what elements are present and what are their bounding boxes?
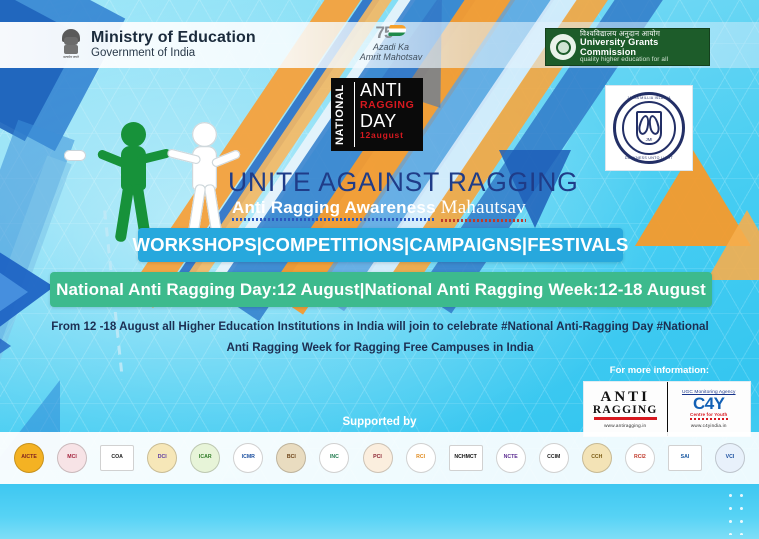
badge-vertical-text: NATIONAL (334, 82, 352, 147)
emblem-shield-icon: JMI (636, 111, 662, 145)
c4y-mark: C4Y (693, 396, 725, 411)
supporter-logo-coa: COA (100, 445, 134, 471)
tricolour-flag-icon (389, 25, 408, 36)
poster-sub-heading: Anti Ragging Awareness Mahautsav (232, 197, 526, 219)
ministry-subtitle: Government of India (91, 47, 256, 60)
antiragging-line-1: ANTI (593, 390, 658, 404)
dates-banner: National Anti Ragging Day:12 August|Nati… (50, 272, 712, 307)
ugc-english-name: University Grants Commission (580, 38, 705, 57)
supporter-logo-rci2: RCI2 (625, 443, 655, 473)
supporter-logo-bci: BCI (276, 443, 306, 473)
ugc-tagline: quality higher education for all (580, 57, 705, 64)
supporter-logo-rci: RCI (406, 443, 436, 473)
ministry-name: Ministry of Education (91, 30, 256, 47)
azadi-line-1: Azadi Ka (352, 43, 430, 52)
bottom-gradient (0, 484, 759, 539)
supporter-logo-vci: VCI (715, 443, 745, 473)
ugc-seal-icon (550, 34, 576, 60)
badge-day-text: DAY (360, 112, 420, 130)
national-anti-ragging-day-badge: NATIONAL ANTI RAGGING DAY 12august (331, 78, 423, 151)
badge-anti-text: ANTI (360, 82, 420, 99)
handshake-icon (64, 150, 86, 161)
dates-banner-text: National Anti Ragging Day:12 August|Nati… (56, 280, 706, 300)
decor-triangle-orange-2 (707, 210, 759, 280)
anti-ragging-poster: सत्यमेव जयते Ministry of Education Gover… (0, 0, 759, 539)
poster-description-paragraph: From 12 -18 August all Higher Education … (44, 316, 716, 358)
supporter-logo-sai: SAI (668, 445, 702, 471)
supporter-logo-pci: PCI (363, 443, 393, 473)
supporter-logo-nchmct: NCHMCT (449, 445, 483, 471)
azadi-ka-amrit-mahotsav-logo: 75 Azadi Ka Amrit Mahotsav (352, 25, 430, 69)
supporter-logo-icar: ICAR (190, 443, 220, 473)
national-emblem-icon: सत्यमेव जयते (60, 28, 82, 62)
antiragging-url[interactable]: www.antiragging.in (604, 423, 646, 428)
ministry-of-education-logo: सत्यमेव जयते Ministry of Education Gover… (60, 28, 256, 62)
supporter-logo-ncte: NCTE (496, 443, 526, 473)
c4y-url[interactable]: www.c4yindia.in (691, 423, 727, 428)
supporter-logo-mci: MCI (57, 443, 87, 473)
more-information-label: For more information: (610, 365, 709, 376)
squiggly-underline-red (441, 219, 526, 222)
supporter-logo-aicte: AICTE (14, 443, 44, 473)
emblem-center-text: JMI (638, 137, 660, 142)
badge-date-text: 12august (360, 130, 420, 141)
supporter-logo-strip: AICTEMCICOADCIICARICMRBCIINCPCIRCINCHMCT… (0, 432, 759, 484)
emblem-top-arc-text: JAMIA MILLIA ISLAMIA (616, 96, 682, 100)
activities-banner: WORKSHOPS|COMPETITIONS|CAMPAIGNS|FESTIVA… (138, 228, 623, 262)
antiragging-red-bar (594, 417, 657, 420)
activities-banner-text: WORKSHOPS|COMPETITIONS|CAMPAIGNS|FESTIVA… (133, 234, 629, 256)
ugc-logo: विश्वविद्यालय अनुदान आयोग University Gra… (545, 28, 710, 66)
sub-heading-part-1: Anti Ragging Awareness (232, 198, 436, 218)
emblem-caption: सत्यमेव जयते (60, 55, 82, 59)
c4y-logo[interactable]: UGC Monitoring Agency C4Y Centre for You… (667, 382, 751, 436)
more-information-box: ANTI RAGGING www.antiragging.in UGC Moni… (583, 381, 751, 437)
supporter-logo-dci: DCI (147, 443, 177, 473)
antiragging-logo[interactable]: ANTI RAGGING www.antiragging.in (584, 382, 667, 436)
antiragging-line-2: RAGGING (593, 404, 658, 416)
sub-heading-part-2: Mahautsav (441, 197, 526, 219)
emblem-bottom-arc-text: DARKNESS UNTO LIGHT (616, 156, 682, 160)
c4y-wave-underline (690, 418, 728, 420)
decor-chevron-3 (0, 300, 11, 392)
poster-main-heading: UNITE AGAINST RAGGING (228, 167, 579, 198)
decor-dot-grid (725, 489, 751, 535)
supporter-logo-ccim: CCIM (539, 443, 569, 473)
supporter-logo-cch: CCH (582, 443, 612, 473)
azadi-line-2: Amrit Mahotsav (352, 52, 430, 62)
supporter-logo-icmr: ICMR (233, 443, 263, 473)
supporter-logo-inc: INC (319, 443, 349, 473)
university-emblem-logo: JAMIA MILLIA ISLAMIA JMI DARKNESS UNTO L… (605, 85, 693, 171)
squiggly-underline-blue (232, 218, 436, 221)
